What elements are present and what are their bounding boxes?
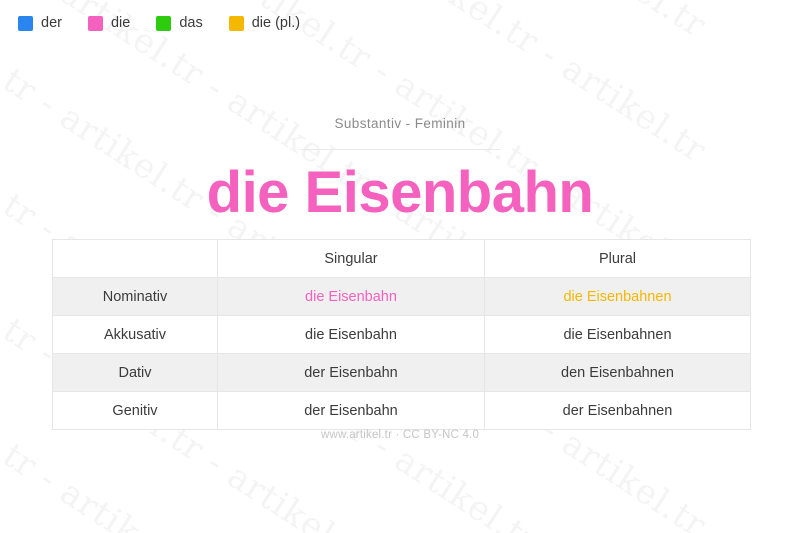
legend-item-der: der: [18, 16, 62, 31]
table-header-row: Singular Plural: [53, 240, 751, 278]
column-header-plural: Plural: [485, 240, 751, 278]
cell-case-label: Nominativ: [53, 278, 218, 316]
legend-item-label: das: [179, 16, 202, 31]
color-swatch-icon: [229, 16, 244, 31]
legend-item-die: die: [88, 16, 130, 31]
legend-item-label: der: [41, 16, 62, 31]
table-header: Singular Plural: [53, 240, 751, 278]
legend-item-diepl-plural: die (pl.): [229, 16, 300, 31]
article-color-legend: derdiedasdie (pl.): [18, 16, 300, 31]
cell-case-label: Genitiv: [53, 392, 218, 430]
color-swatch-icon: [88, 16, 103, 31]
legend-item-das: das: [156, 16, 202, 31]
cell-case-label: Akkusativ: [53, 316, 218, 354]
table-row: Akkusativdie Eisenbahndie Eisenbahnen: [53, 316, 751, 354]
cell-plural-form: die Eisenbahnen: [485, 278, 751, 316]
declension-table: Singular Plural Nominativdie Eisenbahndi…: [52, 239, 751, 430]
legend-item-label: die: [111, 16, 130, 31]
declension-card: derdiedasdie (pl.) Substantiv - Feminin …: [0, 0, 800, 533]
cell-plural-form: die Eisenbahnen: [485, 316, 751, 354]
color-swatch-icon: [18, 16, 33, 31]
cell-singular-form: der Eisenbahn: [218, 354, 485, 392]
subtitle-divider: [300, 149, 500, 150]
word-subtitle: Substantiv - Feminin: [0, 116, 800, 131]
table-row: Dativder Eisenbahnden Eisenbahnen: [53, 354, 751, 392]
page-title: die Eisenbahn: [0, 160, 800, 227]
column-header-case: [53, 240, 218, 278]
cell-singular-form: die Eisenbahn: [218, 278, 485, 316]
column-header-singular: Singular: [218, 240, 485, 278]
cell-singular-form: die Eisenbahn: [218, 316, 485, 354]
color-swatch-icon: [156, 16, 171, 31]
cell-plural-form: der Eisenbahnen: [485, 392, 751, 430]
table-row: Genitivder Eisenbahnder Eisenbahnen: [53, 392, 751, 430]
cell-singular-form: der Eisenbahn: [218, 392, 485, 430]
table-body: Nominativdie Eisenbahndie EisenbahnenAkk…: [53, 278, 751, 430]
footer-credit: www.artikel.tr · CC BY-NC 4.0: [0, 429, 800, 441]
word-subtitle-block: Substantiv - Feminin: [0, 116, 800, 150]
table-row: Nominativdie Eisenbahndie Eisenbahnen: [53, 278, 751, 316]
cell-plural-form: den Eisenbahnen: [485, 354, 751, 392]
cell-case-label: Dativ: [53, 354, 218, 392]
legend-item-label: die (pl.): [252, 16, 300, 31]
